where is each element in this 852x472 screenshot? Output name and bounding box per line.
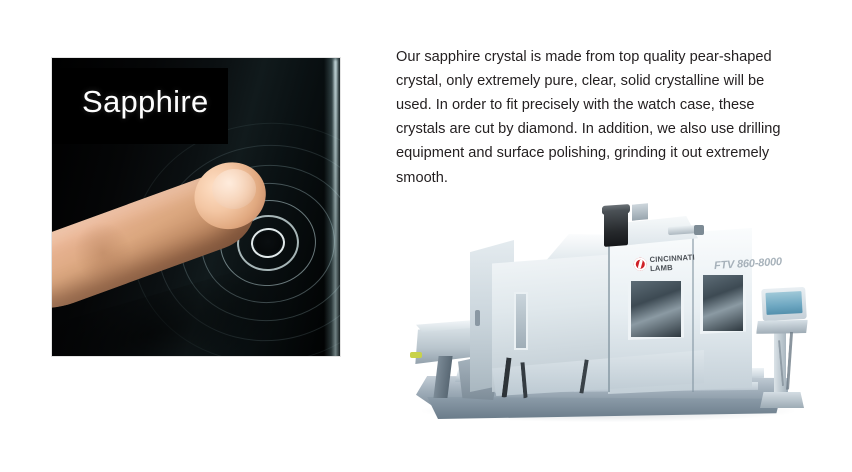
pedestal-cable-1 bbox=[786, 332, 797, 390]
overhead-arm-end bbox=[694, 225, 704, 235]
operator-screen[interactable] bbox=[765, 291, 802, 315]
enclosure-seam-left bbox=[608, 232, 610, 392]
spindle-motor bbox=[604, 209, 628, 247]
brand-name-line-2: LAMB bbox=[650, 263, 673, 274]
coolant-nozzle-icon bbox=[410, 352, 422, 358]
product-description-page: Sapphire Our sapphire crystal is made fr… bbox=[0, 0, 852, 472]
sapphire-caption: Sapphire bbox=[82, 86, 209, 117]
glass-edge-highlight bbox=[324, 58, 340, 356]
keyboard-panel[interactable] bbox=[756, 319, 808, 335]
brand-logo: CINCINNATI LAMB bbox=[633, 252, 708, 282]
control-pedestal-base bbox=[760, 392, 804, 408]
exhaust-duct bbox=[632, 203, 648, 220]
sapphire-touch-image: Sapphire bbox=[52, 58, 340, 356]
cincinnati-lamb-mark-icon bbox=[633, 257, 647, 271]
viewing-window-left bbox=[628, 278, 684, 340]
cnc-machine-image: CINCINNATI LAMB FTV 860-8000 bbox=[396, 192, 820, 444]
product-description-text: Our sapphire crystal is made from top qu… bbox=[396, 45, 800, 190]
glass-edge-specular bbox=[334, 60, 337, 257]
door-handle-icon bbox=[475, 310, 480, 326]
side-access-panel bbox=[514, 292, 528, 350]
viewing-window-right bbox=[700, 272, 746, 334]
